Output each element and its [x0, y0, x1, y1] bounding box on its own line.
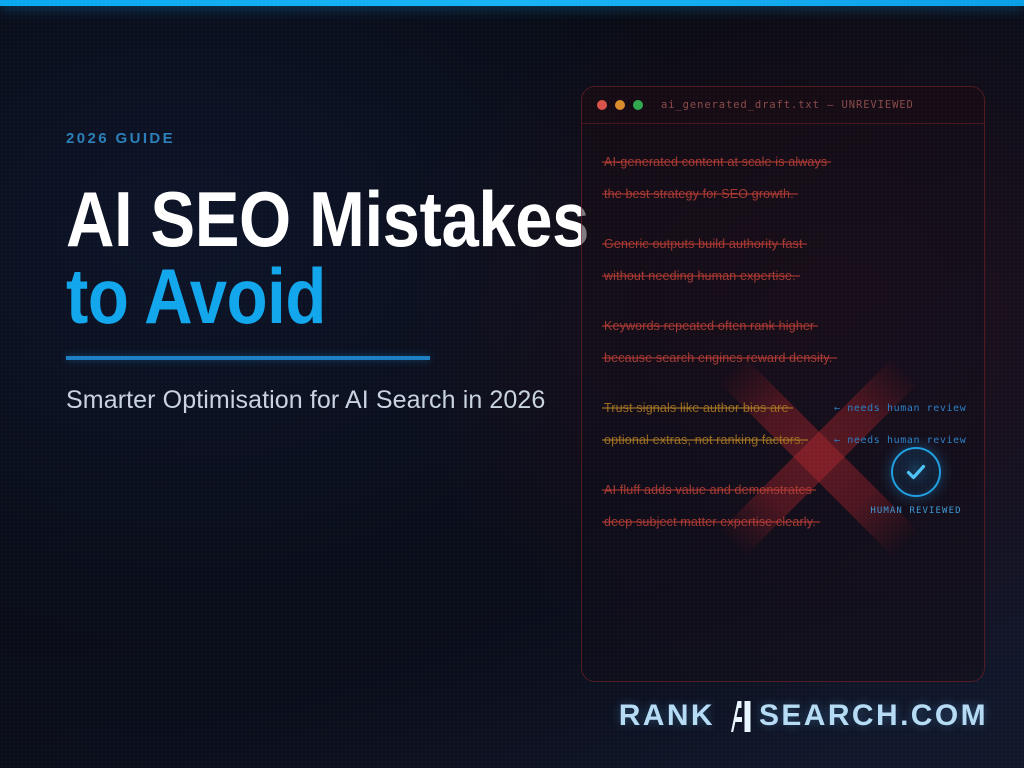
- window-titlebar: ai_generated_draft.txt — UNREVIEWED: [582, 87, 984, 124]
- struck-line-text: deep subject matter expertise clearly.: [604, 515, 816, 529]
- maximize-button[interactable]: [633, 100, 643, 110]
- struck-line-text: Generic outputs build authority fast: [604, 237, 803, 251]
- brand-logo[interactable]: RANK SEARCH.COM: [619, 696, 988, 736]
- human-reviewed-badge: HUMAN REVIEWED: [870, 447, 962, 516]
- struck-line-text: because search engines reward density.: [604, 351, 833, 365]
- document-body: AI-generated content at scale is alwayst…: [582, 124, 984, 538]
- struck-line-text: AI-generated content at scale is always: [604, 155, 827, 169]
- headline-line-2: to Avoid: [66, 260, 530, 333]
- document-line: without needing human expertise.: [582, 260, 984, 292]
- line-gap: [582, 292, 984, 310]
- review-annotation: ← needs human review: [834, 403, 966, 414]
- logo-text-right: SEARCH.COM: [759, 699, 988, 733]
- window-filename: ai_generated_draft.txt — UNREVIEWED: [661, 99, 914, 111]
- document-line: because search engines reward density.: [582, 342, 984, 374]
- logo-text-left: RANK: [619, 699, 715, 733]
- poster-canvas: 2026 GUIDE AI SEO Mistakes to Avoid Smar…: [0, 0, 1024, 768]
- subtitle: Smarter Optimisation for AI Search in 20…: [66, 386, 606, 415]
- document-line: Generic outputs build authority fast: [582, 228, 984, 260]
- top-accent-bar: [0, 0, 1024, 6]
- page-title: AI SEO Mistakes to Avoid: [66, 183, 530, 334]
- ai-monogram-icon: [717, 696, 757, 736]
- struck-line-text: without needing human expertise.: [604, 269, 796, 283]
- document-line: the best strategy for SEO growth.: [582, 178, 984, 210]
- struck-line-text: Trust signals like author bios are: [604, 401, 789, 415]
- review-annotation: ← needs human review: [834, 435, 966, 446]
- struck-line-text: Keywords repeated often rank higher: [604, 319, 814, 333]
- eyebrow-label: 2026 GUIDE: [66, 130, 606, 147]
- document-line: Trust signals like author bios are← need…: [582, 392, 984, 424]
- close-button[interactable]: [597, 100, 607, 110]
- document-window: ai_generated_draft.txt — UNREVIEWED AI-g…: [581, 86, 985, 682]
- line-gap: [582, 210, 984, 228]
- struck-line-text: the best strategy for SEO growth.: [604, 187, 794, 201]
- check-icon: [891, 447, 941, 497]
- badge-label: HUMAN REVIEWED: [870, 506, 962, 516]
- document-line: Keywords repeated often rank higher: [582, 310, 984, 342]
- minimize-button[interactable]: [615, 100, 625, 110]
- document-line: AI-generated content at scale is always: [582, 146, 984, 178]
- struck-line-text: optional extras, not ranking factors.: [604, 433, 804, 447]
- title-divider: [66, 356, 430, 360]
- headline-line-1: AI SEO Mistakes: [66, 175, 589, 263]
- hero-block: 2026 GUIDE AI SEO Mistakes to Avoid Smar…: [66, 130, 606, 415]
- line-gap: [582, 374, 984, 392]
- struck-line-text: AI fluff adds value and demonstrates: [604, 483, 812, 497]
